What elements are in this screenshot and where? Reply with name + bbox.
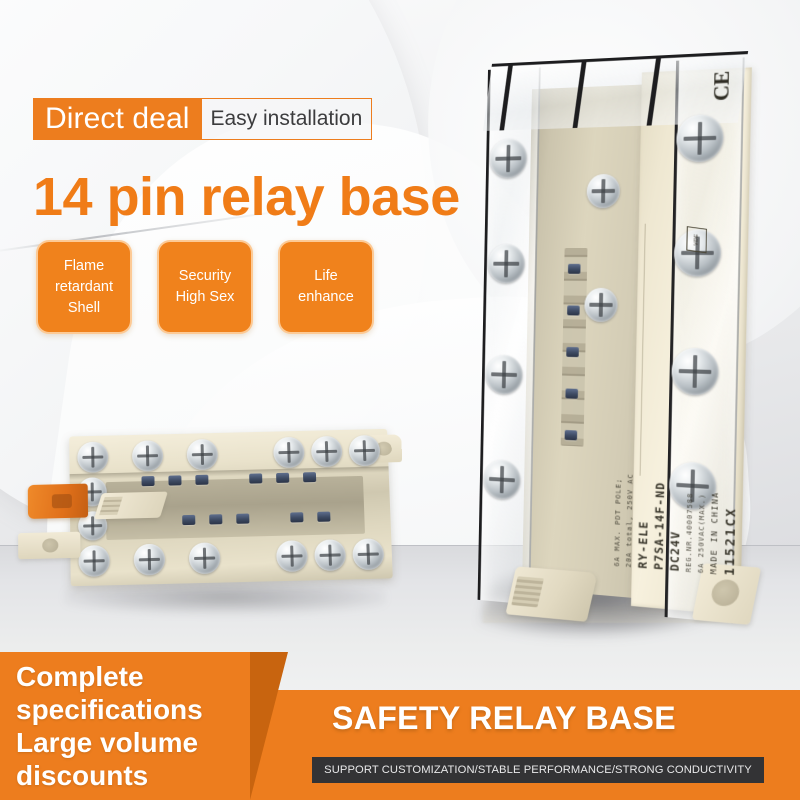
promo-line: specifications <box>16 693 256 726</box>
pin-contact <box>195 475 208 485</box>
feature-badge-life-enhance: Life enhance <box>278 240 374 334</box>
pin-contact <box>209 514 222 524</box>
pin-contact <box>290 512 303 522</box>
product-photo-flat-relay-socket <box>10 420 430 650</box>
promo-text: Complete specifications Large volume dis… <box>16 660 256 792</box>
feature-badge-group: Flame retardant Shell Security High Sex … <box>36 240 374 334</box>
promo-line: discounts <box>16 759 256 792</box>
ad-poster: CE VDE 11521CX MADE IN CHINA 6A 250VAC(M… <box>0 0 800 800</box>
badge-line: Life <box>314 266 337 287</box>
footer-title: SAFETY RELAY BASE <box>208 700 800 737</box>
pin-contact <box>317 512 330 522</box>
din-rail-release-clip <box>28 484 88 519</box>
pin-contact <box>168 475 181 485</box>
pin-contact <box>182 515 195 525</box>
pin-contact <box>565 430 578 440</box>
footer-subtitle: SUPPORT CUSTOMIZATION/STABLE PERFORMANCE… <box>312 757 764 783</box>
pin-contact <box>249 473 262 483</box>
pin-contact <box>567 305 580 315</box>
direct-deal-tag: Direct deal <box>33 98 201 140</box>
promo-line: Large volume <box>16 726 256 759</box>
feature-badge-security: Security High Sex <box>157 240 253 334</box>
feature-badge-flame-retardant: Flame retardant Shell <box>36 240 132 334</box>
mounting-plate <box>18 532 80 560</box>
retainer-lever <box>94 492 168 520</box>
page-title: 14 pin relay base <box>33 166 460 228</box>
pin-contact <box>236 514 249 524</box>
badge-line: Security <box>179 266 231 287</box>
main-product-body: CE VDE 11521CX MADE IN CHINA 6A 250VAC(M… <box>477 51 752 630</box>
badge-line: Flame <box>64 256 104 277</box>
label-rating-ce: 6A 250VAC(MAX.) <box>697 133 715 574</box>
pin-contact <box>141 476 154 486</box>
pin-contact <box>276 473 289 483</box>
header-tag-row: Direct deal Easy installation <box>33 98 372 140</box>
easy-installation-tag: Easy installation <box>201 98 373 140</box>
flat-socket-body <box>69 429 393 586</box>
pin-contact <box>303 472 316 482</box>
badge-line: High Sex <box>176 287 235 308</box>
badge-line: retardant <box>55 277 113 298</box>
badge-line: Shell <box>68 298 100 319</box>
badge-line: enhance <box>298 287 354 308</box>
product-photo-main-relay-base: CE VDE 11521CX MADE IN CHINA 6A 250VAC(M… <box>455 48 790 648</box>
promo-line: Complete <box>16 660 256 693</box>
